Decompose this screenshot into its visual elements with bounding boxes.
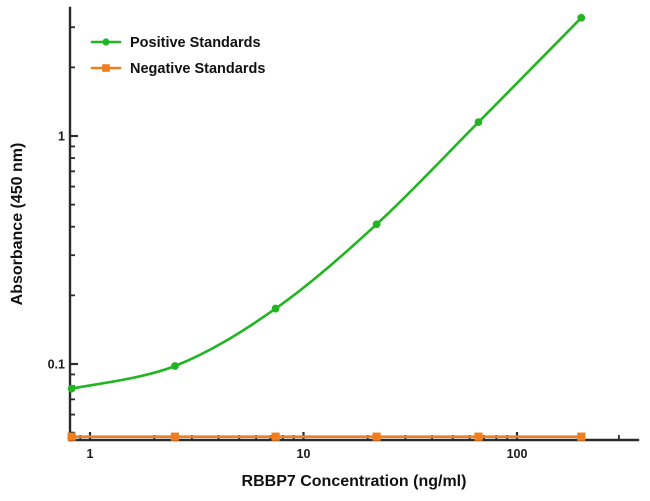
data-point-marker-circle <box>578 14 585 21</box>
data-point-marker-circle <box>373 221 380 228</box>
legend-item-positive-standards[interactable]: Positive Standards <box>92 35 261 51</box>
legend-label: Negative Standards <box>130 61 265 77</box>
legend-marker-circle-icon <box>102 38 109 45</box>
x-axis-title: RBBP7 Concentration (ng/ml) <box>242 473 467 490</box>
elisa-standard-curve-chart: 1101000.11 RBBP7 Concentration (ng/ml) A… <box>0 0 650 501</box>
data-point-marker-circle <box>68 385 75 392</box>
legend-label: Positive Standards <box>130 35 261 51</box>
data-point-marker-square <box>578 433 585 440</box>
data-point-marker-square <box>171 433 178 440</box>
legend: Positive StandardsNegative Standards <box>92 35 265 77</box>
axis-ticks <box>70 27 619 440</box>
data-point-marker-circle <box>475 119 482 126</box>
x-tick-label: 100 <box>507 447 528 461</box>
y-tick-label: 1 <box>58 130 65 144</box>
x-tick-label: 1 <box>87 447 94 461</box>
data-point-marker-circle <box>172 363 179 370</box>
legend-marker-square-icon <box>102 64 110 72</box>
data-series <box>68 14 585 440</box>
data-point-marker-square <box>272 433 279 440</box>
x-tick-label: 10 <box>297 447 311 461</box>
legend-item-negative-standards[interactable]: Negative Standards <box>92 61 265 77</box>
data-point-marker-square <box>475 433 482 440</box>
axis-tick-labels: 1101000.11 <box>48 130 528 462</box>
y-axis-title: Absorbance (450 nm) <box>9 143 26 306</box>
data-point-marker-circle <box>272 305 279 312</box>
chart-container: 1101000.11 RBBP7 Concentration (ng/ml) A… <box>0 0 650 501</box>
y-tick-label: 0.1 <box>48 358 65 372</box>
data-point-marker-square <box>68 433 75 440</box>
data-point-marker-square <box>373 433 380 440</box>
